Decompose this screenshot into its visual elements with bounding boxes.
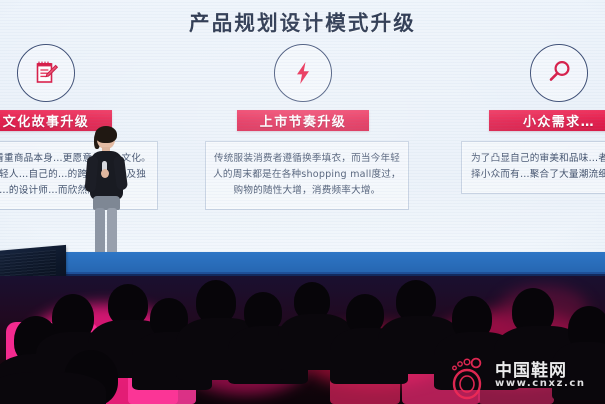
lightning-bolt-icon (274, 44, 332, 102)
slide-tag-launch: 上市节奏升级 (237, 110, 369, 131)
slide-column-launch: 上市节奏升级 传统服装消费者遵循换季填衣，而当今年轻人的周末都是在各种shopp… (205, 44, 401, 210)
magnifier-icon (530, 44, 588, 102)
slide-body-niche: 为了凸显自己的审美和品味…者愈来愈趋于选择小众而有…聚合了大量潮流细分领域产… (461, 141, 605, 194)
presenter-hair (95, 126, 117, 143)
slide-title: 产品规划设计模式升级 (0, 6, 605, 36)
slide-body-launch: 传统服装消费者遵循换季填衣，而当今年轻人的周末都是在各种shopping mal… (205, 141, 409, 210)
slide-column-niche: 小众需求… 为了凸显自己的审美和品味…者愈来愈趋于选择小众而有…聚合了大量潮流细… (461, 44, 605, 194)
conference-stage-photo: 产品规划设计模式升级 (0, 0, 605, 404)
presenter-on-stage (78, 128, 136, 270)
watermark: 中国鞋网 www.cnxz.cn (443, 352, 599, 400)
presenter-right-leg (107, 208, 117, 257)
watermark-url: www.cnxz.cn (495, 378, 586, 389)
audience-member (0, 372, 106, 404)
slide-tag-niche: 小众需求… (489, 110, 605, 131)
presenter-hand (101, 169, 109, 178)
presenter-left-leg (95, 208, 105, 257)
notepad-pencil-icon (17, 44, 75, 102)
